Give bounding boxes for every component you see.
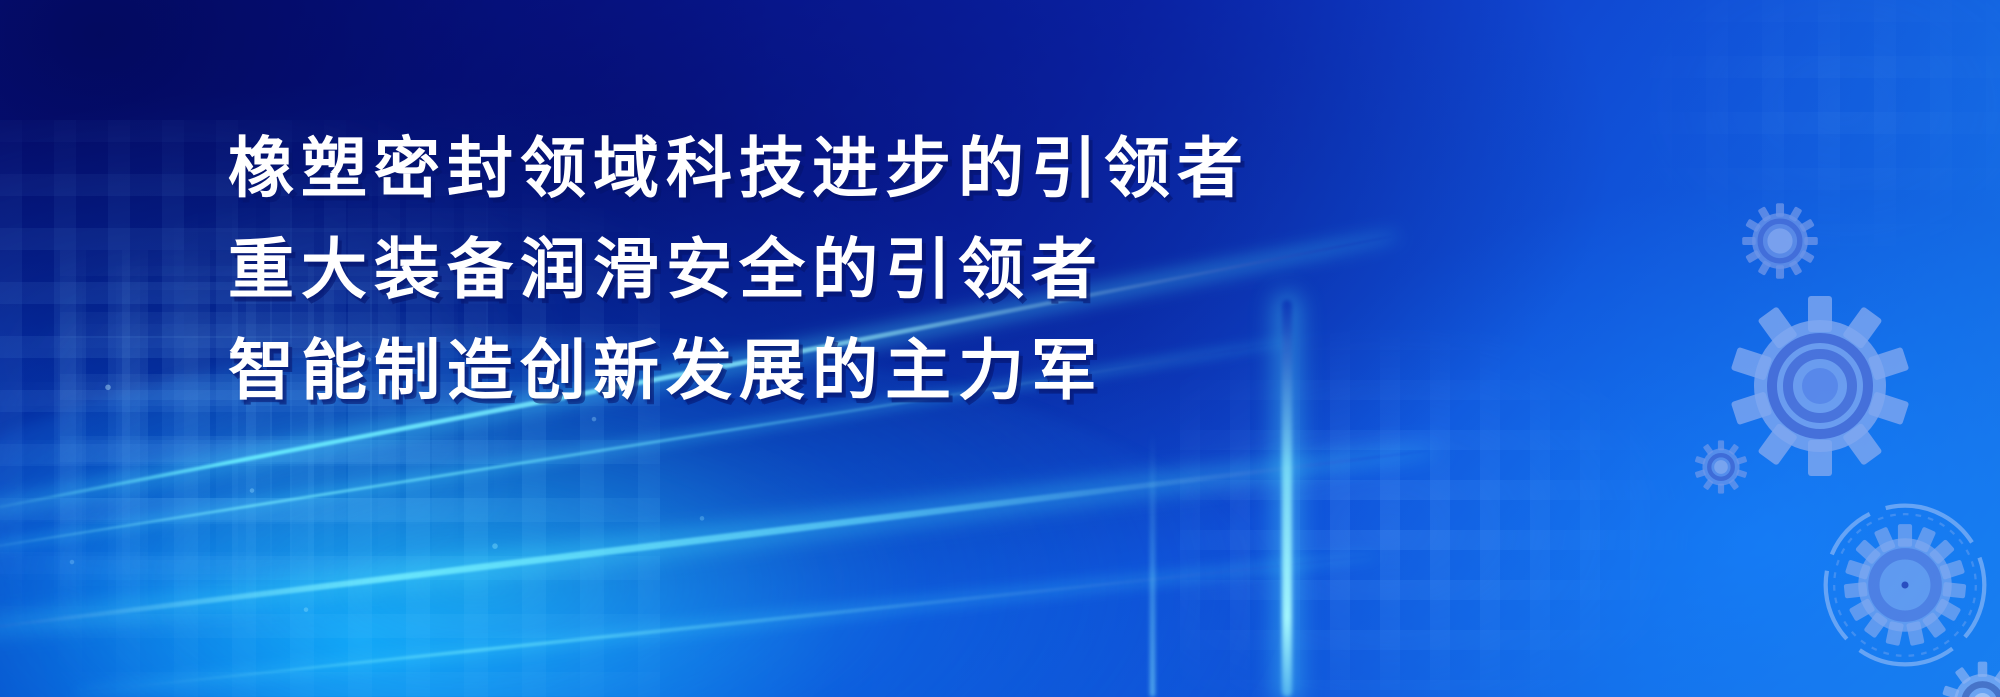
gear-outline-ring-icon [1820, 500, 1990, 670]
gear-corner-icon [1935, 655, 2000, 697]
headline-line-3: 智能制造创新发展的主力军 [228, 320, 1104, 421]
gear-tiny-icon [1690, 436, 1752, 498]
headline-line-1: 橡塑密封领域科技进步的引领者 [228, 118, 1250, 219]
headline-block: 橡塑密封领域科技进步的引领者 重大装备润滑安全的引领者 智能制造创新发展的主力军 [0, 0, 2000, 421]
headline-line-2: 重大装备润滑安全的引领者 [228, 219, 1104, 320]
light-streak-4 [80, 554, 1373, 694]
light-streak-3 [0, 447, 1429, 637]
vertical-light-beam-secondary [1150, 430, 1155, 697]
hero-banner: 橡塑密封领域科技进步的引领者 重大装备润滑安全的引领者 智能制造创新发展的主力军 [0, 0, 2000, 697]
